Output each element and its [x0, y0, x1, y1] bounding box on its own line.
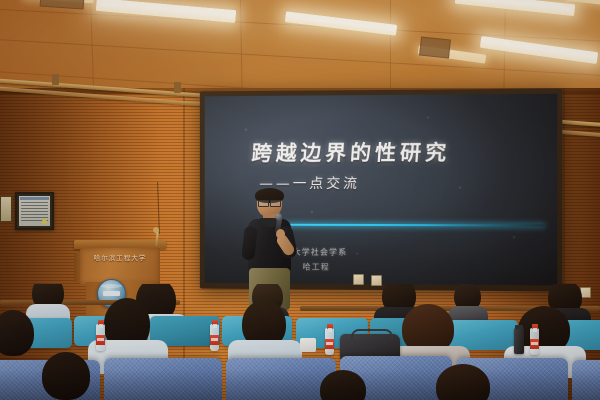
audience-member	[236, 300, 294, 364]
tissue-pack[interactable]	[300, 338, 316, 352]
eyeglasses-icon	[258, 200, 281, 205]
microphone-head-icon	[275, 213, 282, 220]
bottle-label	[530, 339, 539, 349]
audience-head	[0, 310, 34, 356]
wall-notice-board	[15, 192, 54, 230]
bottle-neck	[328, 328, 332, 332]
thermos-flask[interactable]	[514, 328, 524, 354]
audience-area	[0, 284, 600, 400]
notice-seal-icon	[42, 219, 47, 224]
bottle-neck	[213, 324, 217, 328]
water-bottle[interactable]	[210, 324, 219, 351]
ceiling	[0, 0, 600, 96]
podium-microphone-head-icon	[153, 227, 159, 233]
podium-sign-text: 哈尔滨工程大学	[82, 252, 158, 262]
ceiling-vent	[419, 36, 451, 58]
water-bottle[interactable]	[96, 324, 105, 351]
bottle-label	[96, 335, 105, 345]
floor-shadow	[0, 370, 600, 400]
bottle-label	[210, 335, 219, 345]
water-bottle[interactable]	[530, 328, 539, 355]
ceiling-seam	[390, 0, 391, 96]
bottle-label	[325, 339, 334, 349]
rail-bracket	[52, 74, 59, 85]
lecture-hall-photo: 跨越边界的性研究 ——一点交流 大学社会学系 哈工程 哈尔滨工程大学	[0, 0, 600, 400]
bottle-neck	[99, 324, 103, 328]
notice-header-bar	[20, 197, 49, 200]
notice-paper	[19, 196, 50, 226]
presenter-hand	[276, 229, 285, 239]
bottle-neck	[533, 328, 537, 332]
wall-plaque	[0, 196, 12, 222]
water-bottle[interactable]	[325, 328, 334, 355]
rail-bracket	[174, 82, 181, 93]
